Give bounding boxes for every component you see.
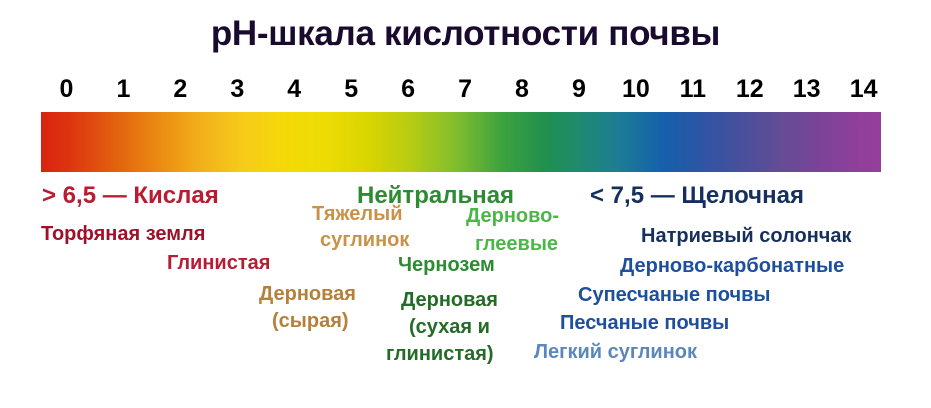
ph-tick-12: 12 — [721, 76, 778, 102]
ph-gradient-bar — [41, 112, 881, 172]
ph-tick-11: 11 — [664, 76, 721, 102]
ph-tick-9: 9 — [550, 76, 607, 102]
alkaline-item-sandy-loam-soils: Супесчаные почвы — [578, 285, 770, 306]
neutral-item-sod-dry-line1: Дерновая — [401, 290, 498, 311]
alkaline-item-light-loam: Легкий суглинок — [534, 342, 697, 363]
neutral-item-chernozem: Чернозем — [398, 255, 495, 276]
ph-tick-8: 8 — [494, 76, 551, 102]
ph-tick-1: 1 — [95, 76, 152, 102]
ph-tick-4: 4 — [266, 76, 323, 102]
ph-tick-14: 14 — [835, 76, 892, 102]
neutral-item-sod-gley-line2: глеевые — [475, 234, 558, 255]
page-title: pH-шкала кислотности почвы — [0, 14, 931, 54]
sod-wet-item-line1: Дерновая — [259, 284, 356, 305]
ph-soil-scale-infographic: pH-шкала кислотности почвы 0 1 2 3 4 5 6… — [0, 0, 931, 408]
acidic-item-peat-soil: Торфяная земля — [41, 224, 205, 245]
ph-tick-10: 10 — [607, 76, 664, 102]
ph-tick-3: 3 — [209, 76, 266, 102]
ph-scale-tick-row: 0 1 2 3 4 5 6 7 8 9 10 11 12 13 14 — [38, 76, 892, 102]
ph-tick-5: 5 — [323, 76, 380, 102]
loam-item-loam: суглинок — [320, 230, 409, 251]
ph-tick-7: 7 — [437, 76, 494, 102]
acidic-heading: > 6,5 — Кислая — [42, 183, 219, 208]
ph-tick-2: 2 — [152, 76, 209, 102]
neutral-item-sod-dry-line2: (сухая и — [409, 317, 490, 338]
acidic-item-clay: Глинистая — [167, 253, 270, 274]
alkaline-item-sod-carbonate: Дерново-карбонатные — [620, 256, 844, 277]
neutral-item-sod-gley-line1: Дерново- — [466, 206, 559, 227]
alkaline-heading: < 7,5 — Щелочная — [590, 183, 804, 208]
ph-tick-0: 0 — [38, 76, 95, 102]
alkaline-item-sandy-soils: Песчаные почвы — [560, 313, 729, 334]
sod-wet-item-line2: (сырая) — [272, 311, 349, 332]
ph-tick-6: 6 — [380, 76, 437, 102]
alkaline-item-sodium-solonchak: Натриевый солончак — [641, 226, 852, 247]
neutral-item-sod-dry-line3: глинистая) — [386, 344, 494, 365]
ph-tick-13: 13 — [778, 76, 835, 102]
